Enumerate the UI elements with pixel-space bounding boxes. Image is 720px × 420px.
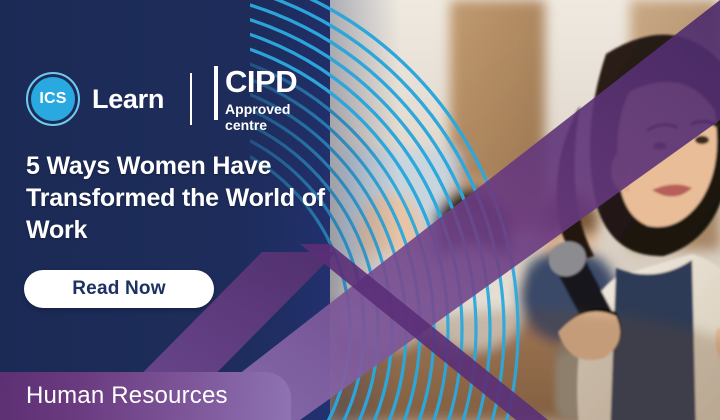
ics-logo-text: ICS [39,90,66,108]
ics-learn-wordmark: Learn [92,84,164,115]
cipd-subtitle-line1: Approved [225,102,297,116]
category-label: Human Resources [26,382,228,410]
logo-divider [190,73,192,125]
cipd-logo: CIPD Approved centre [214,66,297,132]
promo-banner: ICS Learn CIPD Approved centre 5 Ways Wo… [0,0,720,420]
cipd-wordmark: CIPD [225,66,297,97]
read-now-button[interactable]: Read Now [24,270,214,308]
category-banner[interactable]: Human Resources [0,372,291,420]
cipd-subtitle-line2: centre [225,118,297,132]
ics-logo-icon: ICS [26,72,80,126]
brand-lockup: ICS Learn CIPD Approved centre [26,68,297,130]
cipd-bar-icon [214,66,218,120]
headline: 5 Ways Women Have Transformed the World … [26,150,326,246]
